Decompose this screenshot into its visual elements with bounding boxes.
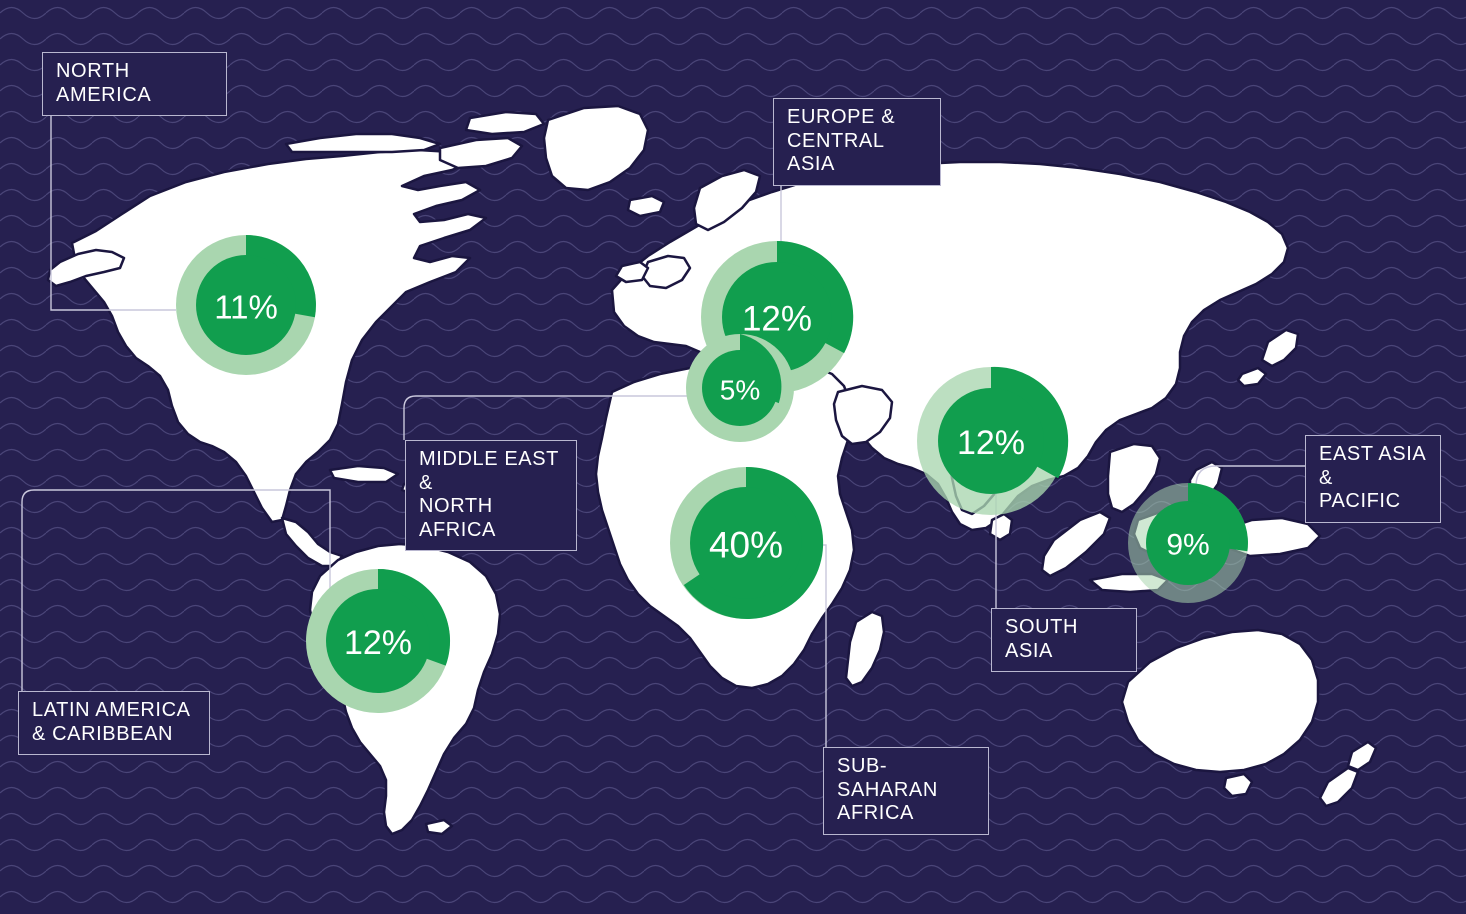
donut-value-europe: 12% xyxy=(742,300,812,339)
infographic-map: 11% 12% 12% 5% 40% xyxy=(0,0,1466,914)
donut-sub-saharan-africa[interactable]: 40% xyxy=(670,467,823,619)
callout-latin-america-caribbean[interactable]: LATIN AMERICA & CARIBBEAN xyxy=(18,691,210,755)
donut-middle-east[interactable]: 5% xyxy=(686,334,794,442)
donut-value-middle-east: 5% xyxy=(720,375,760,406)
donut-value-south-asia: 12% xyxy=(957,424,1025,462)
donut-value-sub-saharan-africa: 40% xyxy=(709,525,783,566)
donut-value-latin-america: 12% xyxy=(344,624,412,662)
callout-sub-saharan-africa[interactable]: SUB-SAHARAN AFRICA xyxy=(823,747,989,835)
donut-charts: 11% 12% 12% 5% 40% xyxy=(0,0,1466,914)
callout-east-asia-pacific[interactable]: EAST ASIA & PACIFIC xyxy=(1305,435,1441,523)
donut-north-america[interactable]: 11% xyxy=(176,235,316,375)
donut-value-north-america: 11% xyxy=(214,289,278,326)
callout-middle-east-north-africa[interactable]: MIDDLE EAST & NORTH AFRICA xyxy=(405,440,577,551)
donut-value-east-asia: 9% xyxy=(1166,529,1209,562)
donut-latin-america[interactable]: 12% xyxy=(306,569,450,713)
callout-europe-central-asia[interactable]: EUROPE & CENTRAL ASIA xyxy=(773,98,941,186)
donut-east-asia[interactable]: 9% xyxy=(1128,483,1248,603)
callout-north-america[interactable]: NORTH AMERICA xyxy=(42,52,227,116)
donut-south-asia[interactable]: 12% xyxy=(917,367,1068,515)
callout-south-asia[interactable]: SOUTH ASIA xyxy=(991,608,1137,672)
